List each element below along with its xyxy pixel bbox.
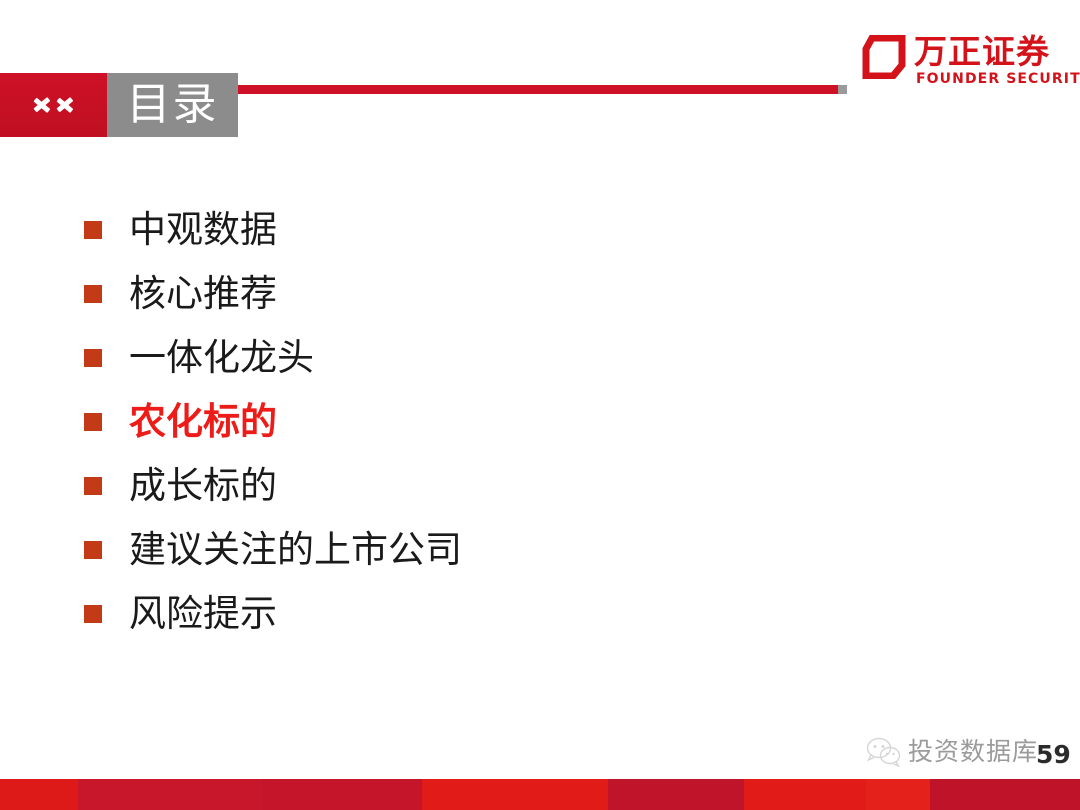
footer-bar-segment [866, 779, 930, 810]
toc-item-label: 一体化龙头 [129, 335, 314, 381]
square-bullet-icon [84, 477, 102, 495]
toc-item-label: 核心推荐 [129, 271, 277, 317]
founder-securities-diamond-icon [862, 35, 906, 79]
square-bullet-icon [84, 541, 102, 559]
square-bullet-icon [84, 349, 102, 367]
toc-item-label: 农化标的 [129, 399, 277, 445]
square-bullet-icon [84, 413, 102, 431]
list-item[interactable]: 一体化龙头 [84, 326, 884, 390]
section-banner: 目录 [0, 73, 238, 137]
footer-bar [0, 779, 1080, 810]
footer-bar-segment [608, 779, 744, 810]
footer-bar-segment [744, 779, 866, 810]
toc-item-label: 风险提示 [129, 591, 277, 637]
watermark: 投资数据库 [866, 737, 1038, 767]
logo-name-en: FOUNDER SECURITIES [916, 71, 1080, 87]
footer-bar-segment [262, 779, 422, 810]
footer-bar-segment [78, 779, 262, 810]
list-item[interactable]: 核心推荐 [84, 262, 884, 326]
brand-logo: 万正证券 FOUNDER SECURITIES [862, 33, 1062, 89]
double-chevron-right-icon [0, 73, 107, 137]
list-item-active[interactable]: 农化标的 [84, 390, 884, 454]
square-bullet-icon [84, 285, 102, 303]
watermark-label: 投资数据库 [908, 737, 1038, 767]
toc-item-label: 中观数据 [129, 207, 277, 253]
header-rule [238, 85, 841, 94]
list-item[interactable]: 建议关注的上市公司 [84, 518, 884, 582]
footer-bar-segment [422, 779, 608, 810]
wechat-logo-icon [866, 737, 902, 767]
page-title: 目录 [107, 73, 238, 137]
list-item[interactable]: 中观数据 [84, 198, 884, 262]
list-item[interactable]: 风险提示 [84, 582, 884, 646]
list-item[interactable]: 成长标的 [84, 454, 884, 518]
slide-canvas: 目录 万正证券 FOUNDER SECURITIES 中观数据 核心推荐 一体化… [0, 0, 1080, 810]
page-number: 59 [1036, 740, 1071, 770]
header-rule-cap [838, 85, 847, 94]
square-bullet-icon [84, 221, 102, 239]
toc-item-label: 成长标的 [129, 463, 277, 509]
square-bullet-icon [84, 605, 102, 623]
toc-item-label: 建议关注的上市公司 [129, 527, 462, 573]
logo-name-cn: 万正证券 [914, 33, 1050, 71]
toc-list: 中观数据 核心推荐 一体化龙头 农化标的 成长标的 建议关注的上市公司 风险提示 [84, 198, 884, 646]
footer-bar-segment [930, 779, 1080, 810]
footer-bar-segment [0, 779, 78, 810]
